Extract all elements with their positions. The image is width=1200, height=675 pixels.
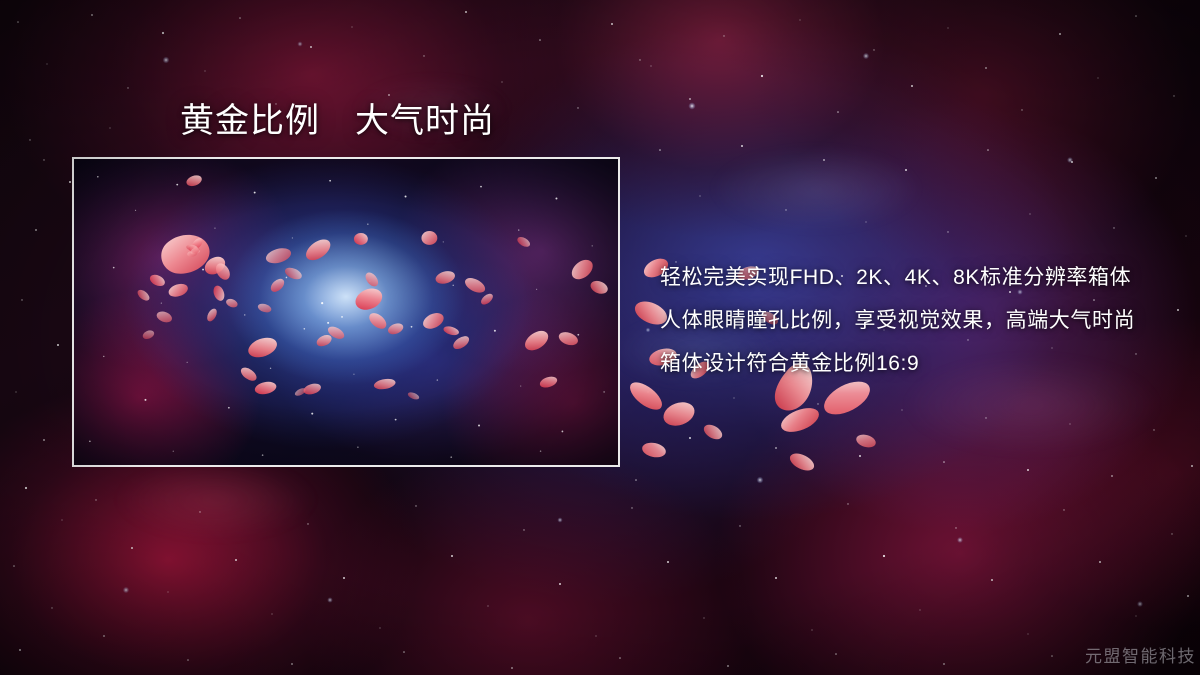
framed-image <box>72 157 620 467</box>
body-line-3: 箱体设计符合黄金比例16:9 <box>660 342 1180 385</box>
inner-vignette <box>74 159 618 465</box>
body-copy: 轻松完美实现FHD、2K、4K、8K标准分辨率箱体 人体眼睛瞳孔比例，享受视觉效… <box>660 256 1180 385</box>
page-title: 黄金比例 大气时尚 <box>180 100 495 143</box>
body-line-2: 人体眼睛瞳孔比例，享受视觉效果，高端大气时尚 <box>660 299 1180 342</box>
watermark-brand: 元盟智能科技 <box>1085 642 1196 667</box>
body-line-1: 轻松完美实现FHD、2K、4K、8K标准分辨率箱体 <box>660 256 1180 299</box>
presentation-slide: 黄金比例 大气时尚 轻松完美实现FHD、2K、4K、8K标准分辨率箱体 人体眼睛… <box>0 0 1200 675</box>
